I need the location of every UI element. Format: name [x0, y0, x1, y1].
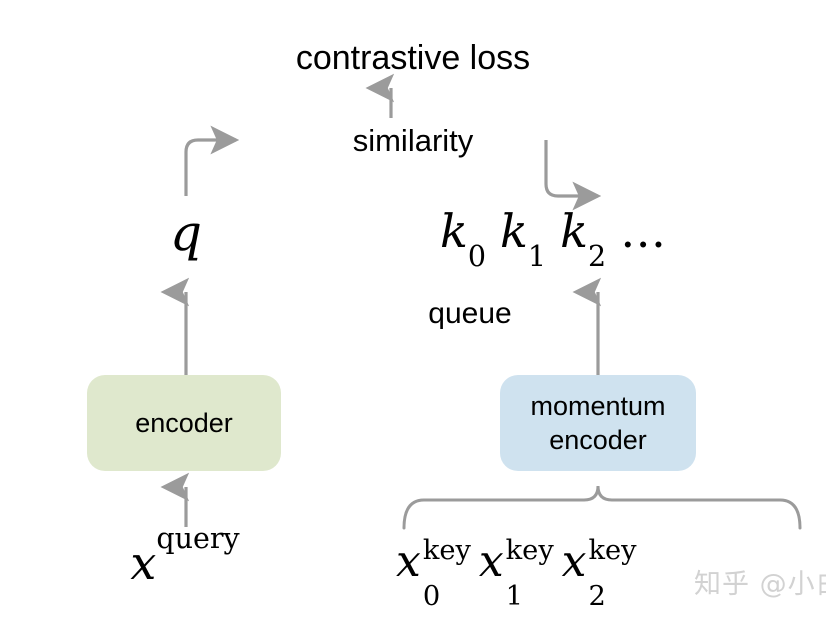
momentum-encoder-box[interactable]: momentum encoder — [500, 375, 696, 471]
similarity-label: similarity — [0, 122, 826, 160]
contrastive-loss-label: contrastive loss — [0, 38, 826, 78]
key-symbol-2: k2 — [560, 204, 606, 258]
momentum-encoder-line1: momentum — [530, 391, 665, 421]
x-query-symbol: xquery — [60, 536, 310, 590]
query-symbol-base: q — [170, 204, 202, 262]
x-key-symbol-2: xkey2 — [562, 536, 623, 587]
watermark: 知乎 @小白 — [694, 562, 826, 601]
encoder-box-label: encoder — [135, 406, 233, 440]
encoder-box[interactable]: encoder — [87, 375, 281, 471]
query-symbol: q — [0, 204, 372, 262]
x-query-superscript: query — [156, 522, 239, 555]
x-key-symbol-0: xkey0 — [396, 536, 457, 587]
key-symbol-1: k1 — [500, 204, 546, 258]
x-query-base: x — [130, 536, 156, 590]
diagram-canvas: contrastive loss similarity queue q k0k1… — [0, 0, 826, 634]
momentum-encoder-box-label: momentum encoder — [530, 389, 665, 457]
momentum-encoder-line2: encoder — [549, 425, 647, 455]
x-key-symbol-1: xkey1 — [479, 536, 540, 587]
key-symbols-row: k0k1k2… — [440, 204, 760, 258]
key-symbols-ellipsis: … — [620, 204, 668, 258]
key-symbol-0: k0 — [440, 204, 486, 258]
queue-label: queue — [380, 296, 560, 332]
key-samples-brace — [404, 486, 800, 528]
